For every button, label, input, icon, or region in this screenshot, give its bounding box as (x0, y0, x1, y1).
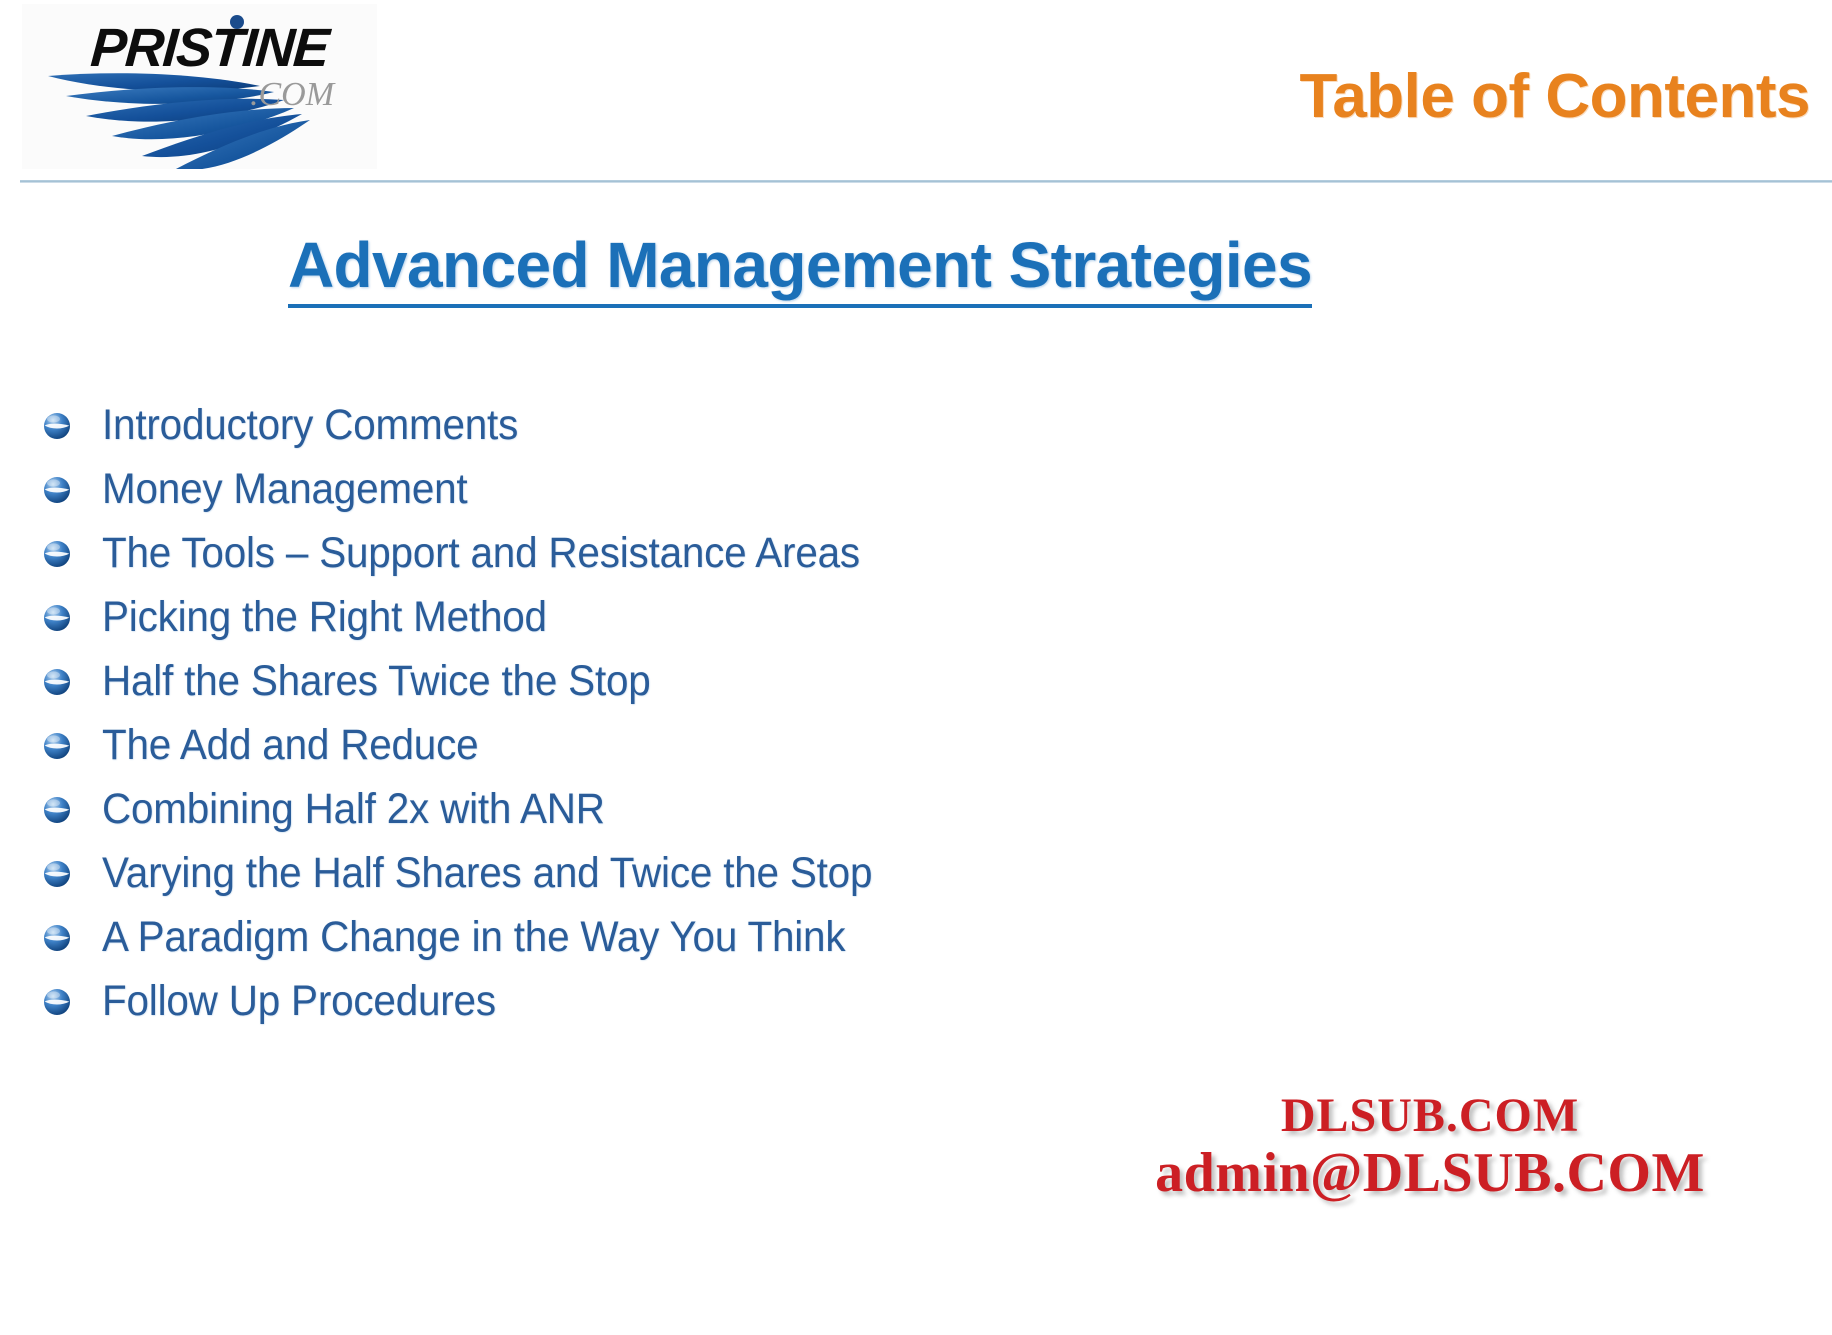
list-item[interactable]: Money Management (42, 457, 1242, 521)
list-item-label: A Paradigm Change in the Way You Think (102, 916, 845, 959)
page-title-text: Advanced Management Strategies (288, 228, 1312, 308)
list-item[interactable]: Follow Up Procedures (42, 969, 1242, 1033)
blue-sphere-bullet-icon (42, 603, 72, 633)
pristine-com-logo: PRISTINE .COM (22, 4, 377, 169)
list-item[interactable]: A Paradigm Change in the Way You Think (42, 905, 1242, 969)
watermark: DLSUB.COM admin@DLSUB.COM (1100, 1092, 1760, 1202)
list-item-label: The Add and Reduce (102, 724, 478, 767)
blue-sphere-bullet-icon (42, 859, 72, 889)
list-item[interactable]: Half the Shares Twice the Stop (42, 649, 1242, 713)
list-item-label: Combining Half 2x with ANR (102, 788, 605, 831)
blue-sphere-bullet-icon (42, 475, 72, 505)
list-item[interactable]: Varying the Half Shares and Twice the St… (42, 841, 1242, 905)
list-item-label: Follow Up Procedures (102, 980, 496, 1023)
watermark-email-text: admin@DLSUB.COM (1155, 1142, 1705, 1204)
blue-sphere-bullet-icon (42, 795, 72, 825)
table-of-contents-list: Introductory Comments Money Management (42, 393, 1242, 1033)
watermark-site: DLSUB.COM (1100, 1092, 1760, 1141)
blue-sphere-bullet-icon (42, 411, 72, 441)
blue-sphere-bullet-icon (42, 667, 72, 697)
list-item-label: Picking the Right Method (102, 596, 547, 639)
list-item[interactable]: Picking the Right Method (42, 585, 1242, 649)
header-title: Table of Contents (1300, 66, 1810, 128)
list-item-label: Varying the Half Shares and Twice the St… (102, 852, 872, 895)
blue-sphere-bullet-icon (42, 731, 72, 761)
header-divider (20, 180, 1832, 183)
watermark-site-text: DLSUB.COM (1281, 1089, 1579, 1142)
list-item-label: Money Management (102, 468, 467, 511)
svg-text:.COM: .COM (250, 76, 336, 113)
blue-sphere-bullet-icon (42, 923, 72, 953)
blue-sphere-bullet-icon (42, 539, 72, 569)
slide-canvas: PRISTINE .COM Table of Contents Advanced… (0, 0, 1832, 1335)
list-item[interactable]: Combining Half 2x with ANR (42, 777, 1242, 841)
list-item-label: Half the Shares Twice the Stop (102, 660, 651, 703)
svg-text:PRISTINE: PRISTINE (89, 18, 334, 78)
page-title: Advanced Management Strategies (0, 228, 1600, 308)
list-item[interactable]: The Add and Reduce (42, 713, 1242, 777)
list-item-label: Introductory Comments (102, 404, 518, 447)
list-item[interactable]: The Tools – Support and Resistance Areas (42, 521, 1242, 585)
blue-sphere-bullet-icon (42, 987, 72, 1017)
list-item[interactable]: Introductory Comments (42, 393, 1242, 457)
watermark-email: admin@DLSUB.COM (1100, 1145, 1760, 1202)
list-item-label: The Tools – Support and Resistance Areas (102, 532, 860, 575)
slide-header: PRISTINE .COM Table of Contents (0, 0, 1832, 185)
